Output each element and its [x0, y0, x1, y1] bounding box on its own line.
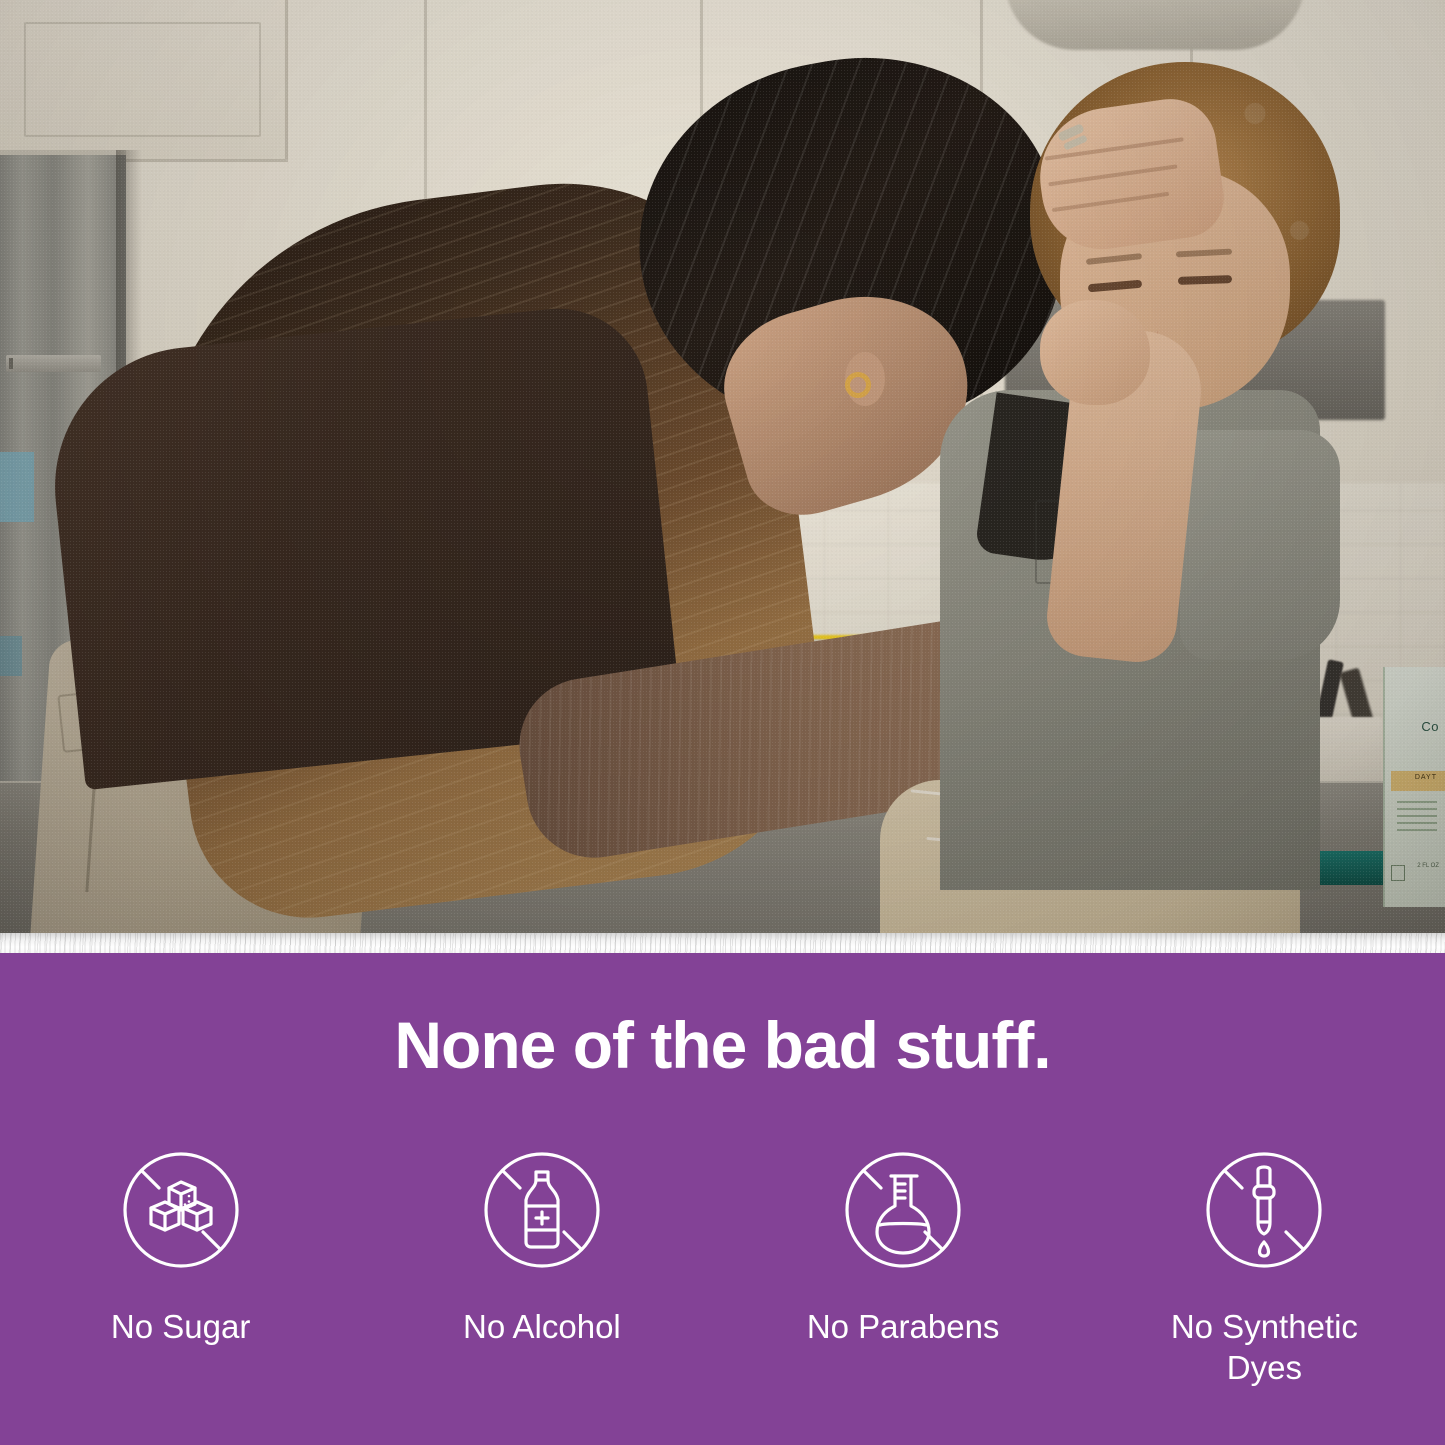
no-sugar-cubes-icon: [117, 1146, 245, 1274]
claim-tile-no-synthetic-dyes: No Synthetic Dyes: [1084, 1146, 1445, 1389]
panel-headline: None of the bad stuff.: [0, 1012, 1445, 1078]
claim-tile-no-sugar: No Sugar: [0, 1146, 361, 1389]
upper-cabinet: [0, 0, 288, 162]
product-box-ingredients: [1397, 801, 1437, 836]
pendant-light: [1005, 0, 1305, 50]
fridge-magnet: [0, 452, 34, 522]
product-box: Co DAYT 2 FL OZ: [1383, 667, 1445, 907]
claim-label: No Parabens: [798, 1306, 1008, 1347]
product-box-band-label: DAYT: [1415, 774, 1437, 781]
product-box-title: Co: [1421, 719, 1439, 734]
child-eyebrow: [1176, 249, 1232, 258]
product-box-volume: 2 FL OZ: [1417, 863, 1439, 869]
claim-tile-no-alcohol: No Alcohol: [361, 1146, 722, 1389]
claim-label: No Sugar: [76, 1306, 286, 1347]
child-eye: [1178, 275, 1232, 285]
no-flask-icon: [839, 1146, 967, 1274]
mother-earring: [845, 372, 871, 398]
claim-tile-no-parabens: No Parabens: [723, 1146, 1084, 1389]
marketing-image: Co DAYT 2 FL OZ: [0, 0, 1445, 1445]
refrigerator-badge: [6, 355, 101, 372]
child-sleeve: [1180, 430, 1340, 660]
product-box-mark: [1391, 865, 1405, 881]
claim-label: No Alcohol: [437, 1306, 647, 1347]
child-eyebrow: [1086, 253, 1142, 265]
claim-label: No Synthetic Dyes: [1159, 1306, 1369, 1389]
child-eye: [1088, 280, 1142, 293]
claims-row: No Sugar: [0, 1146, 1445, 1389]
no-bottle-icon: [478, 1146, 606, 1274]
child-hand: [1040, 300, 1150, 405]
hero-photo: Co DAYT 2 FL OZ: [0, 0, 1445, 953]
no-dropper-icon: [1200, 1146, 1328, 1274]
fridge-magnet: [0, 636, 22, 676]
counter-edge-divider: [0, 933, 1445, 953]
